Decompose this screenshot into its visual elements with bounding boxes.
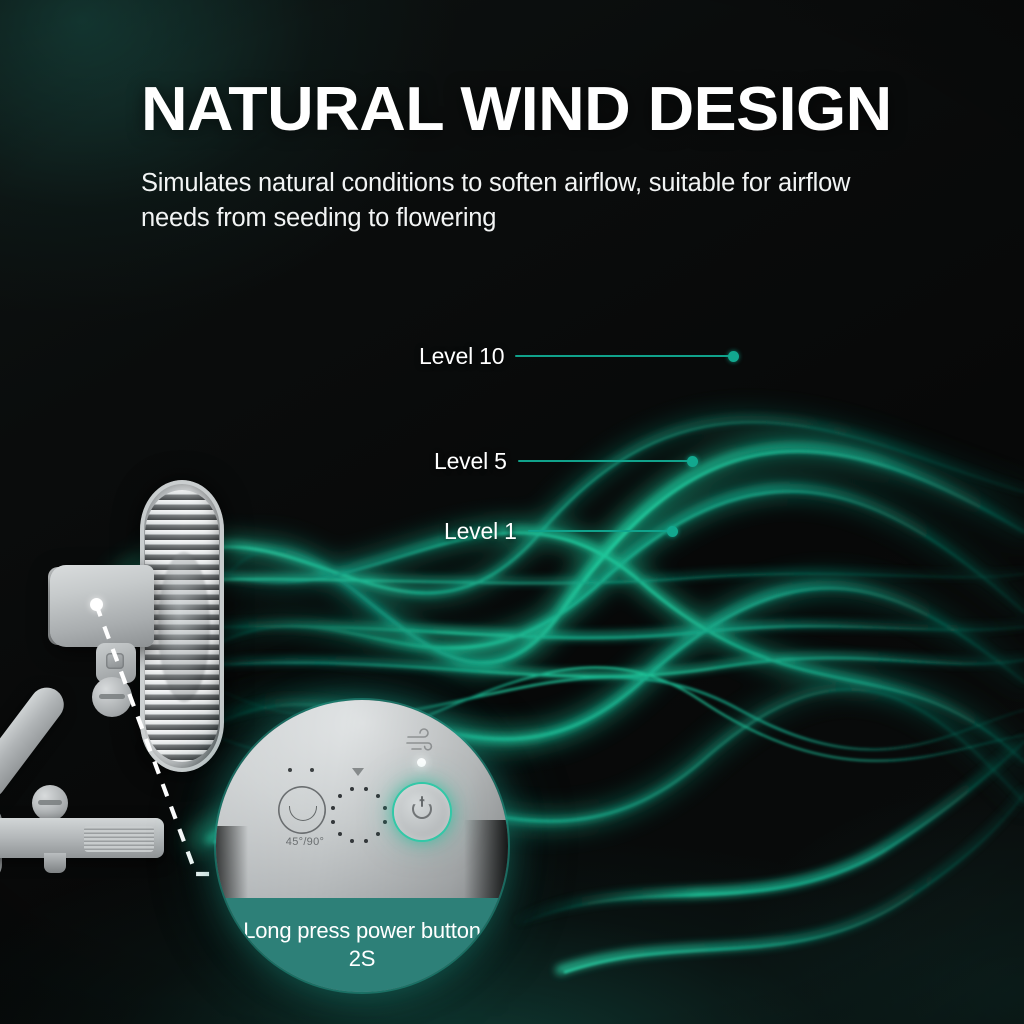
- detail-caption-band: Long press power button 2S: [216, 898, 508, 992]
- control-panel-detail-circle: 45°/90° Long press power button 2S: [216, 700, 508, 992]
- level-endpoint-dot: [667, 526, 678, 537]
- oscillation-angle-label: 45°/90°: [276, 836, 334, 848]
- articulated-arm: [0, 681, 71, 805]
- oscillation-indicator-dot-left: [288, 768, 292, 772]
- upper-adjust-knob: [92, 677, 132, 717]
- level-endpoint-dot: [687, 456, 698, 467]
- level-connector-line: [518, 460, 688, 463]
- oscillation-swing-icon: [289, 806, 317, 821]
- page-subtitle: Simulates natural conditions to soften a…: [141, 166, 883, 235]
- level-label: Level 5: [434, 448, 507, 475]
- level-connector-line: [528, 530, 668, 533]
- marketing-image: NATURAL WIND DESIGN Simulates natural co…: [0, 0, 1024, 1024]
- speed-level-ring-icon: [328, 784, 390, 846]
- wind-breeze-icon: [404, 728, 440, 754]
- level-callout-1: Level 1: [444, 519, 678, 543]
- lower-adjust-knob: [32, 785, 68, 821]
- triangle-marker-icon: [352, 768, 364, 776]
- level-callout-10: Level 10: [419, 344, 739, 368]
- clamp-grip-pad: [84, 826, 154, 852]
- oscillation-button[interactable]: [278, 786, 326, 834]
- caption-line-2: 2S: [349, 946, 376, 973]
- power-button[interactable]: [394, 784, 450, 840]
- level-endpoint-dot: [728, 351, 739, 362]
- page-title: NATURAL WIND DESIGN: [141, 78, 973, 142]
- level-label: Level 1: [444, 518, 517, 545]
- oscillation-indicator-dot-right: [310, 768, 314, 772]
- clamp-screw: [44, 853, 66, 873]
- level-callout-5: Level 5: [434, 449, 698, 473]
- level-connector-line: [515, 355, 729, 358]
- callout-origin-dot: [90, 598, 103, 611]
- status-led-indicator: [417, 758, 426, 767]
- caption-line-1: Long press power button: [243, 918, 481, 945]
- level-label: Level 10: [419, 343, 504, 370]
